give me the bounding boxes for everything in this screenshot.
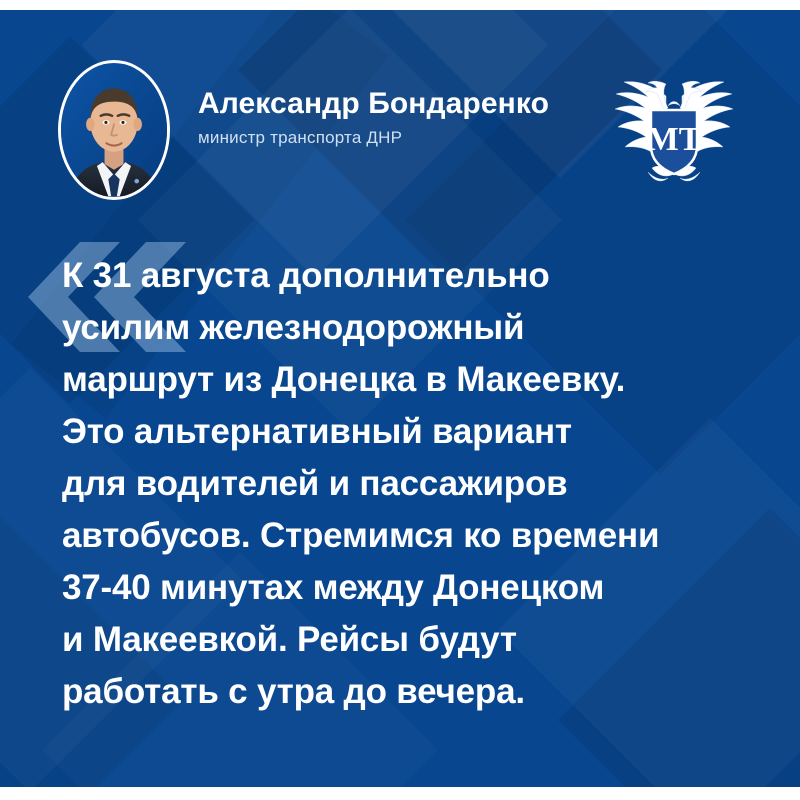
name-block: Александр Бондаренко министр транспорта … bbox=[198, 86, 618, 148]
avatar bbox=[58, 60, 170, 200]
announcement-card: Александр Бондаренко министр транспорта … bbox=[0, 10, 800, 787]
quote-line: и Макеевкой. Рейсы будут bbox=[62, 614, 762, 666]
person-name: Александр Бондаренко bbox=[198, 86, 618, 122]
quote-line: маршрут из Донецка в Макеевку. bbox=[62, 354, 762, 406]
shield-text: МТ bbox=[647, 121, 702, 158]
person-title: министр транспорта ДНР bbox=[198, 128, 618, 148]
quote-line: 37-40 минутах между Донецком bbox=[62, 562, 762, 614]
quote-line: К 31 августа дополнительно bbox=[62, 250, 762, 302]
quote-line: автобусов. Стремимся ко времени bbox=[62, 510, 762, 562]
quote-line: усилим железнодорожный bbox=[62, 302, 762, 354]
person-portrait-icon bbox=[61, 63, 167, 197]
header: Александр Бондаренко министр транспорта … bbox=[0, 10, 800, 205]
quote-line: Это альтернативный вариант bbox=[62, 406, 762, 458]
dpr-emblem: МТ bbox=[608, 62, 740, 190]
quote-text-block: К 31 августа дополнительно усилим железн… bbox=[62, 250, 762, 718]
quote-line: для водителей и пассажиров bbox=[62, 458, 762, 510]
double-headed-eagle-icon: МТ bbox=[608, 62, 740, 190]
quote-line: работать с утра до вечера. bbox=[62, 666, 762, 718]
